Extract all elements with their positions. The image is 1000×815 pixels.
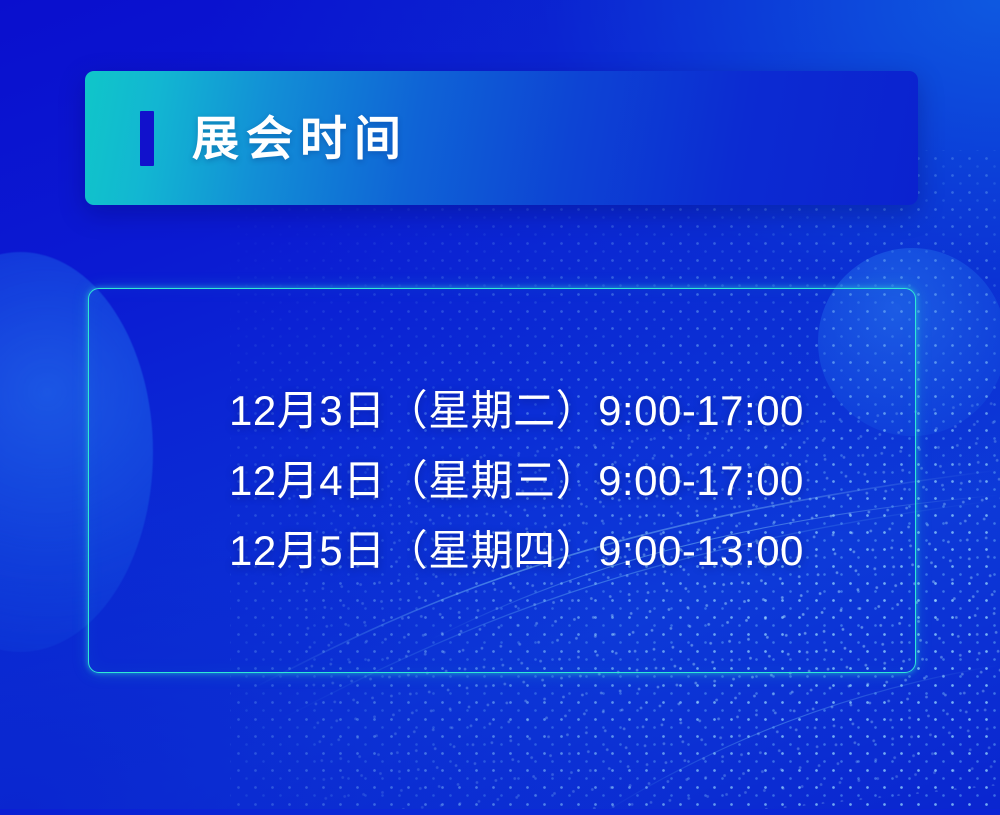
bottom-edge-strip (0, 809, 1000, 815)
page-title: 展会时间 (192, 115, 408, 162)
schedule-list: 12月3日（星期二）9:00-17:00 12月4日（星期三）9:00-17:0… (89, 376, 915, 586)
schedule-frame: 12月3日（星期二）9:00-17:00 12月4日（星期三）9:00-17:0… (88, 288, 916, 673)
section-header-bar: 展会时间 (85, 71, 918, 205)
list-item: 12月5日（星期四）9:00-13:00 (229, 516, 915, 586)
list-item: 12月3日（星期二）9:00-17:00 (229, 376, 915, 446)
title-accent-bar (140, 111, 154, 166)
list-item: 12月4日（星期三）9:00-17:00 (229, 446, 915, 516)
poster-canvas: 展会时间 12月3日（星期二）9:00-17:00 12月4日（星期三）9:00… (0, 0, 1000, 815)
